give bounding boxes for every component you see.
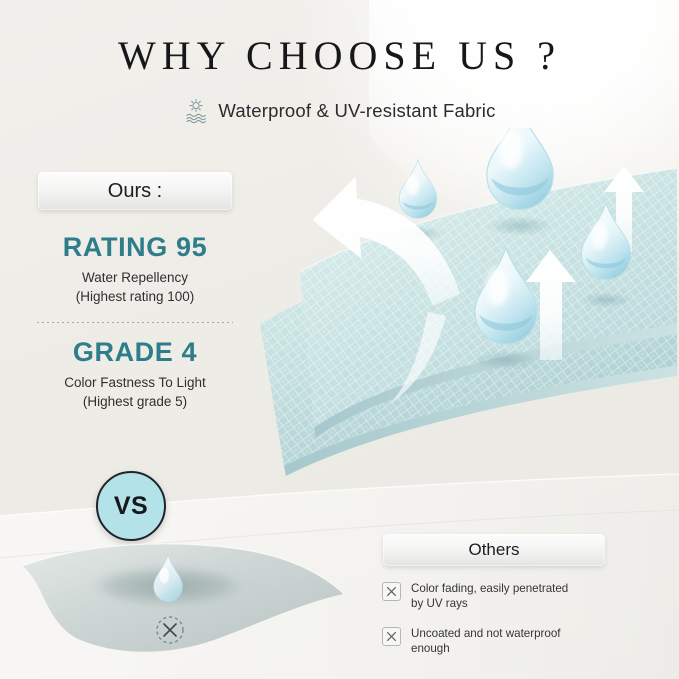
stat-grade-headline: GRADE 4 bbox=[20, 337, 250, 368]
vs-badge-label: VS bbox=[114, 492, 148, 521]
list-item-line1: Color fading, easily penetrated bbox=[411, 582, 568, 595]
page-title: WHY CHOOSE US ? bbox=[0, 32, 679, 79]
water-droplet bbox=[487, 128, 553, 209]
x-mark-icon bbox=[382, 627, 401, 646]
list-item: Uncoated and not waterproof enough bbox=[382, 626, 652, 657]
stat-rating-description: Water Repellency (Highest rating 100) bbox=[20, 269, 250, 306]
subtitle-row: Waterproof & UV-resistant Fabric bbox=[0, 98, 679, 124]
list-item-text: Uncoated and not waterproof enough bbox=[411, 626, 561, 657]
stat-grade-line1: Color Fastness To Light bbox=[20, 374, 250, 393]
subtitle-text: Waterproof & UV-resistant Fabric bbox=[218, 100, 495, 122]
list-item-text: Color fading, easily penetrated by UV ra… bbox=[411, 581, 568, 612]
list-item-line1: Uncoated and not waterproof bbox=[411, 627, 561, 640]
others-label-text: Others bbox=[468, 540, 519, 560]
others-label-pill: Others bbox=[383, 534, 605, 566]
hero-fabric-illustration bbox=[258, 128, 679, 488]
water-droplet bbox=[399, 160, 436, 218]
list-item: Color fading, easily penetrated by UV ra… bbox=[382, 581, 652, 612]
bad-fabric-illustration bbox=[18, 538, 348, 670]
x-mark-icon bbox=[382, 582, 401, 601]
stat-rating-headline: RATING 95 bbox=[20, 232, 250, 263]
sun-waves-icon bbox=[183, 98, 209, 124]
infographic-canvas: WHY CHOOSE US ? Waterproof & UV-resistan… bbox=[0, 0, 679, 679]
others-drawback-list: Color fading, easily penetrated by UV ra… bbox=[382, 581, 652, 670]
list-item-line2: enough bbox=[411, 642, 450, 655]
ours-label-text: Ours : bbox=[108, 180, 162, 203]
stat-rating-line1: Water Repellency bbox=[20, 269, 250, 288]
stat-rating-line2: (Highest rating 100) bbox=[20, 288, 250, 307]
stat-grade: GRADE 4 Color Fastness To Light (Highest… bbox=[20, 337, 250, 411]
ours-label-pill: Ours : bbox=[38, 172, 232, 210]
stat-grade-description: Color Fastness To Light (Highest grade 5… bbox=[20, 374, 250, 411]
stats-divider bbox=[37, 322, 233, 323]
stat-rating: RATING 95 Water Repellency (Highest rati… bbox=[20, 232, 250, 306]
list-item-line2: by UV rays bbox=[411, 597, 468, 610]
ours-stats-block: RATING 95 Water Repellency (Highest rati… bbox=[20, 232, 250, 412]
stat-grade-line2: (Highest grade 5) bbox=[20, 393, 250, 412]
vs-badge: VS bbox=[96, 471, 166, 541]
